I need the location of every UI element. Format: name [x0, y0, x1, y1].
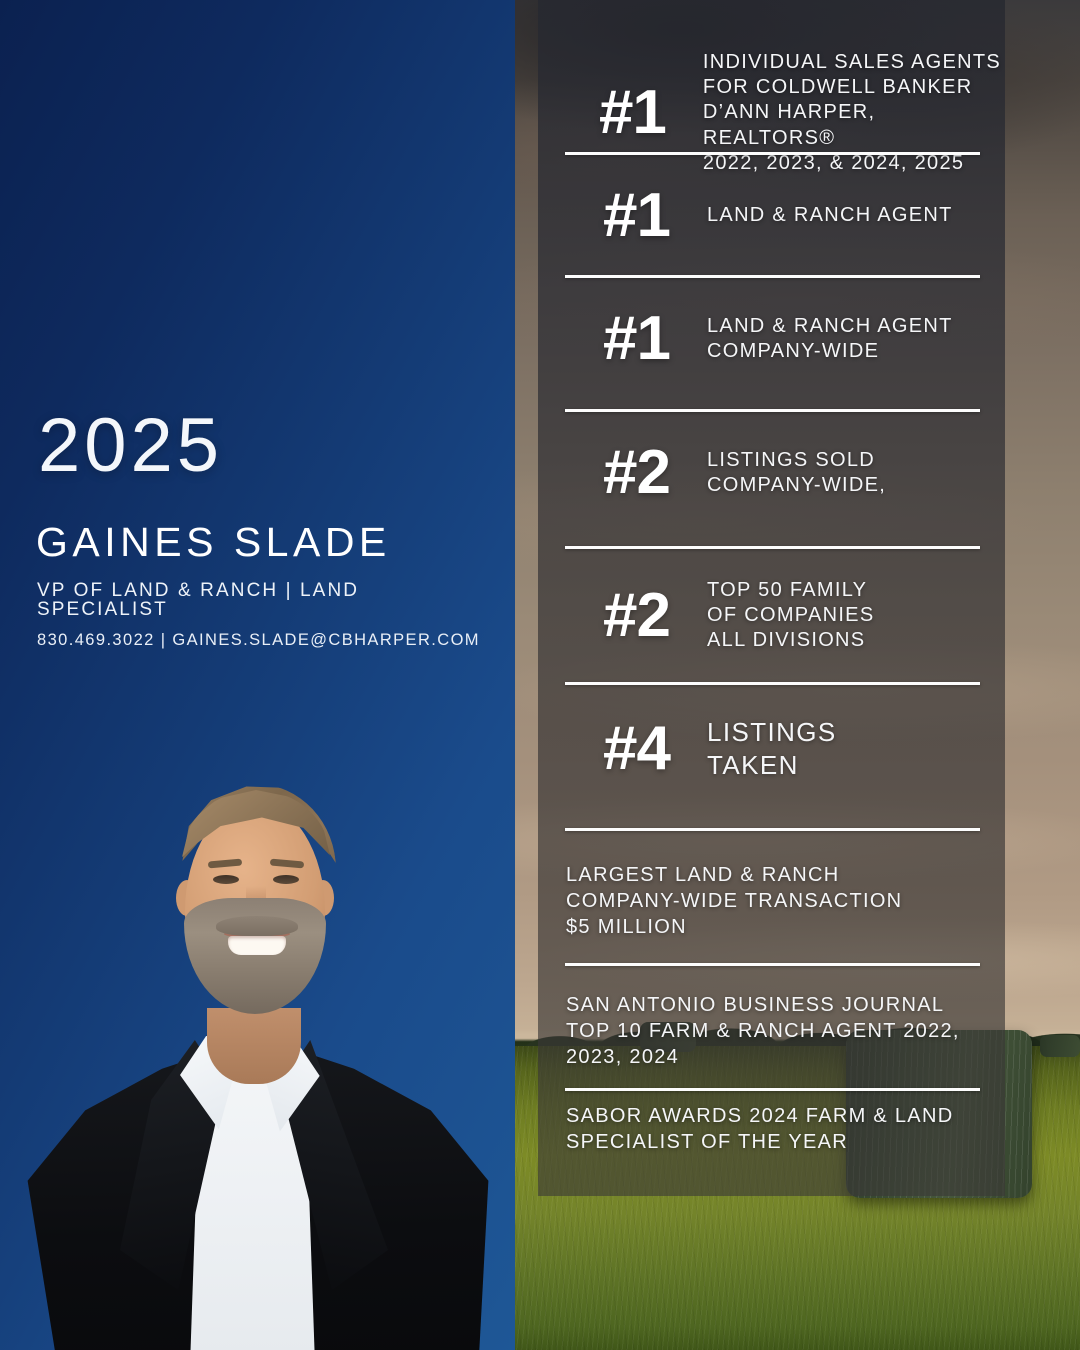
note-line: SPECIALIST OF THE YEAR — [566, 1131, 848, 1153]
rank-badge: #2 — [538, 442, 670, 504]
achievement-line: ALL DIVISIONS — [707, 629, 865, 651]
achievement-line: FOR COLDWELL BANKER — [703, 76, 973, 98]
achievement-line: COMPANY-WIDE — [707, 340, 879, 362]
agent-contact: 830.469.3022 | GAINES.SLADE@CBHARPER.COM — [37, 632, 496, 649]
achievement-row: #1 INDIVIDUAL SALES AGENTS FOR COLDWELL … — [538, 50, 1005, 176]
achievement-line: OF COMPANIES — [707, 604, 874, 626]
note-line: COMPANY-WIDE TRANSACTION — [566, 890, 902, 912]
achievement-row: #4 LISTINGS TAKEN — [538, 716, 837, 782]
note-line: SAN ANTONIO BUSINESS JOURNAL — [566, 994, 944, 1016]
eye-left — [213, 875, 239, 884]
mustache — [216, 916, 298, 936]
note-line: LARGEST LAND & RANCH — [566, 864, 839, 886]
rank-badge: #1 — [538, 82, 666, 144]
achievement-text: LISTINGS SOLD COMPANY-WIDE, — [707, 448, 886, 498]
divider — [565, 1088, 980, 1091]
divider — [565, 546, 980, 549]
page-title: 2025 — [38, 408, 496, 484]
avatar — [0, 740, 515, 1350]
achievement-text: INDIVIDUAL SALES AGENTS FOR COLDWELL BAN… — [703, 50, 1005, 176]
agent-info: 2025 GAINES SLADE VP OF LAND & RANCH | L… — [36, 408, 496, 649]
smile-teeth — [228, 936, 286, 955]
note-line: SABOR AWARDS 2024 FARM & LAND — [566, 1105, 953, 1127]
rank-badge: #2 — [538, 585, 670, 647]
achievement-line: TOP 50 FAMILY — [707, 579, 867, 601]
achievement-text: TOP 50 FAMILY OF COMPANIES ALL DIVISIONS — [707, 578, 874, 654]
marketing-poster: 2025 GAINES SLADE VP OF LAND & RANCH | L… — [0, 0, 1080, 1350]
divider — [565, 682, 980, 685]
achievement-text: LAND & RANCH AGENT COMPANY-WIDE — [707, 314, 953, 364]
achievement-line: LISTINGS — [707, 717, 837, 747]
achievement-line: LAND & RANCH AGENT — [707, 204, 953, 226]
eye-right — [273, 875, 299, 884]
achievement-line: 2022, 2023, & 2024, 2025 — [703, 152, 964, 174]
note-text: LARGEST LAND & RANCH COMPANY-WIDE TRANSA… — [566, 862, 986, 940]
divider — [565, 963, 980, 966]
note-line: 2023, 2024 — [566, 1046, 679, 1068]
agent-name: GAINES SLADE — [36, 522, 496, 563]
rank-badge: #1 — [538, 308, 670, 370]
neck — [207, 1008, 301, 1084]
note-line: TOP 10 FARM & RANCH AGENT 2022, — [566, 1020, 960, 1042]
achievement-row: #2 LISTINGS SOLD COMPANY-WIDE, — [538, 442, 886, 504]
achievement-text: LAND & RANCH AGENT — [707, 203, 953, 228]
rank-badge: #4 — [538, 718, 670, 780]
achievements-list: #1 INDIVIDUAL SALES AGENTS FOR COLDWELL … — [538, 0, 1005, 1196]
achievement-row: #1 LAND & RANCH AGENT — [538, 185, 953, 247]
agent-role: VP OF LAND & RANCH | LAND SPECIALIST — [37, 581, 496, 619]
achievement-line: INDIVIDUAL SALES AGENTS — [703, 51, 1001, 73]
divider — [565, 275, 980, 278]
achievement-line: TAKEN — [707, 750, 799, 780]
achievement-text: LISTINGS TAKEN — [707, 716, 837, 782]
rank-badge: #1 — [538, 185, 670, 247]
achievement-row: #2 TOP 50 FAMILY OF COMPANIES ALL DIVISI… — [538, 578, 874, 654]
divider — [565, 828, 980, 831]
note-text: SAN ANTONIO BUSINESS JOURNAL TOP 10 FARM… — [566, 992, 986, 1070]
note-text: SABOR AWARDS 2024 FARM & LAND SPECIALIST… — [566, 1103, 986, 1155]
hay-bale-small — [1040, 1035, 1080, 1057]
note-line: $5 MILLION — [566, 916, 687, 938]
achievement-line: COMPANY-WIDE, — [707, 474, 886, 496]
achievement-line: LAND & RANCH AGENT — [707, 315, 953, 337]
achievement-row: #1 LAND & RANCH AGENT COMPANY-WIDE — [538, 308, 953, 370]
divider — [565, 152, 980, 155]
achievement-line: D’ANN HARPER, REALTORS® — [703, 101, 875, 148]
divider — [565, 409, 980, 412]
achievement-line: LISTINGS SOLD — [707, 449, 875, 471]
